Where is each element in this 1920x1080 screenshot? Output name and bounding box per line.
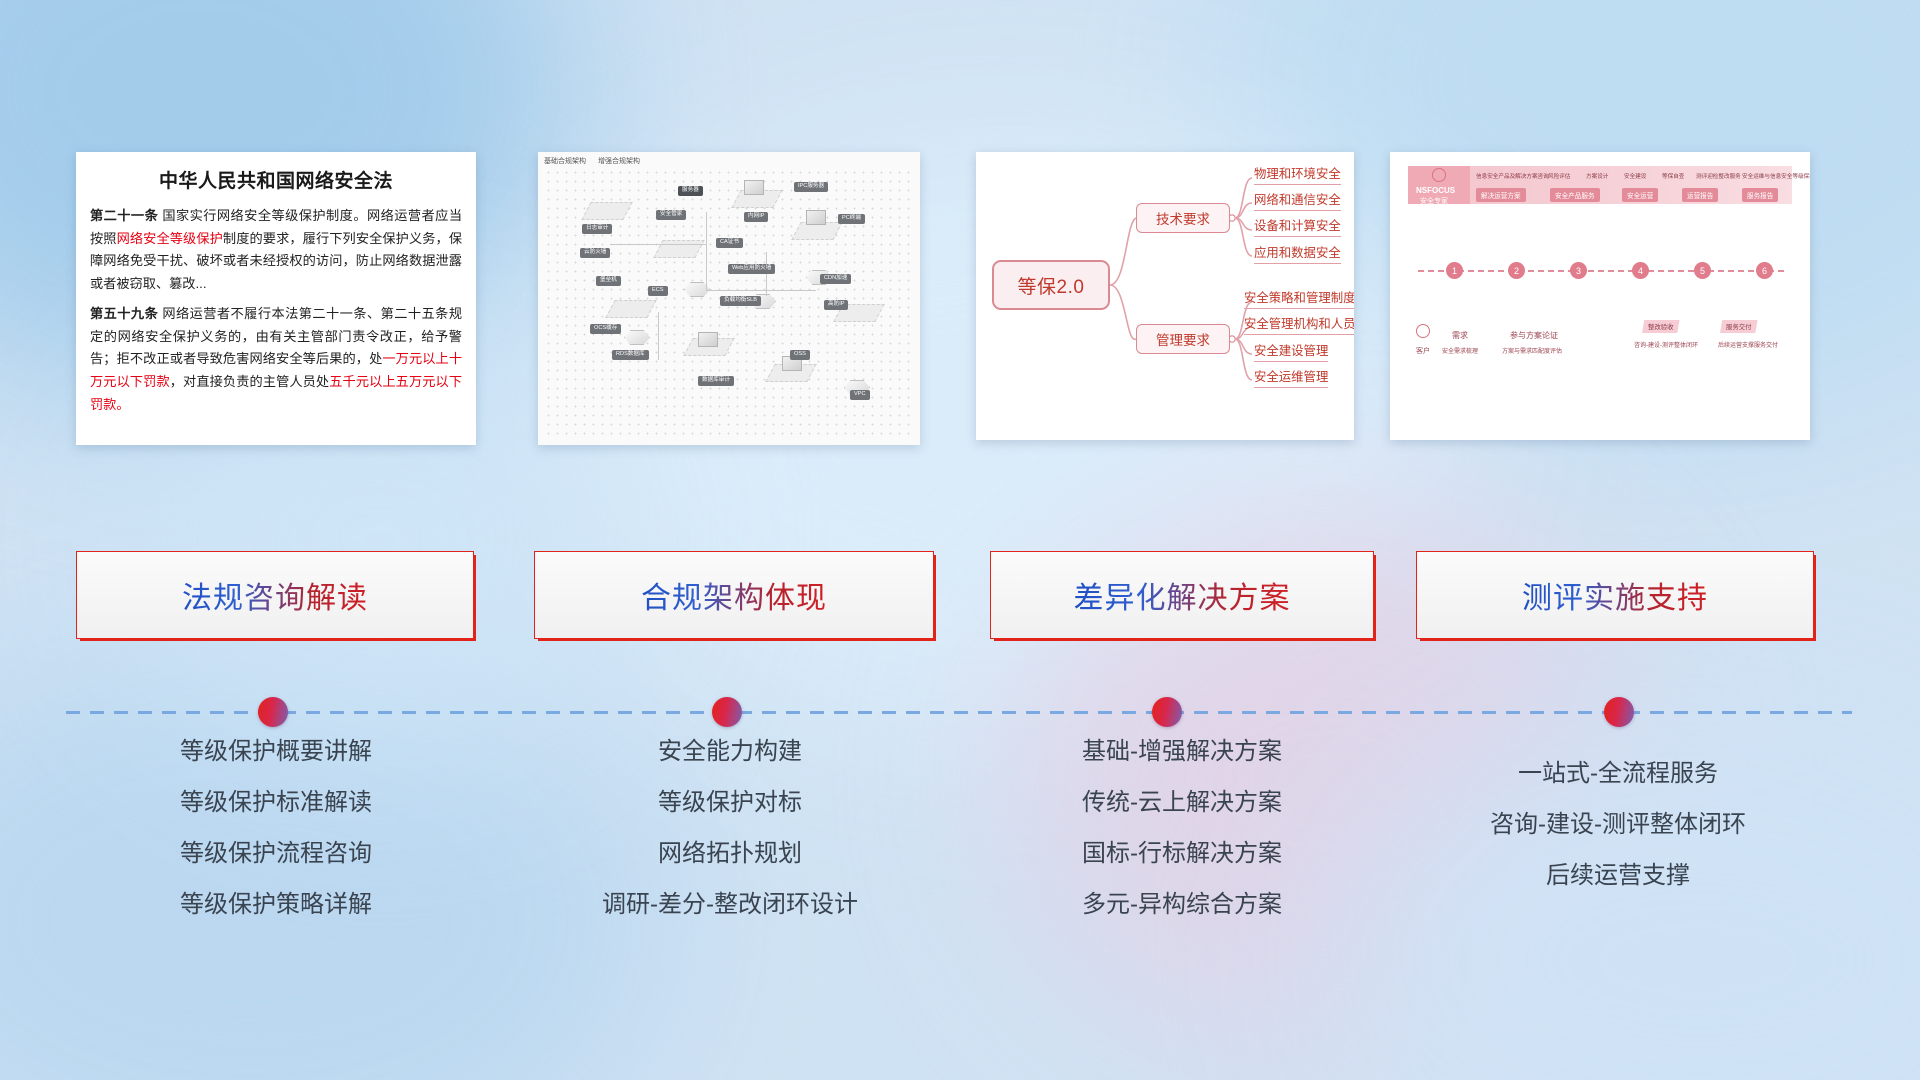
list-item[interactable]: 网络拓扑规划	[520, 842, 940, 866]
arch-connector-1	[610, 244, 706, 245]
timeline-dashed-line	[66, 711, 1852, 714]
mindmap: 等保2.0 技术要求 管理要求 物理和环境安全 网络和通信安全 设备和计算安全 …	[976, 152, 1354, 440]
arch-node-vpc: VPC	[850, 390, 870, 400]
roadmap-chip-1: 安全产品服务	[1550, 188, 1600, 202]
timeline-dot-3[interactable]	[1152, 697, 1182, 727]
law-article-59-run-2: ，对直接负责的主管人员处	[170, 374, 329, 389]
arch-connector-2	[706, 212, 707, 290]
mindmap-leaf-ops-mgmt[interactable]: 安全运维管理	[1254, 367, 1328, 388]
arch-node-gaofang-ip: 高防IP	[824, 300, 848, 310]
titles-row: 法规咨询解读 合规架构体现 差异化解决方案 测评实施支持	[0, 551, 1920, 641]
arch-node-log-audit: 日志审计	[582, 224, 612, 234]
roadmap-tag-acceptance: 整改验收	[1642, 320, 1680, 333]
timeline-dot-4[interactable]	[1604, 697, 1634, 727]
mindmap-leaf-network-comm[interactable]: 网络和通信安全	[1254, 190, 1341, 211]
list-item[interactable]: 等级保护流程咨询	[76, 842, 476, 866]
title-label-0: 法规咨询解读	[182, 573, 368, 617]
list-item[interactable]: 调研-差分-整改闭环设计	[520, 893, 940, 917]
roadmap-diagram: NSFOCUS 安全专家 信息安全产品及解决方案咨询 风险评估 方案设计 安全建…	[1390, 152, 1810, 440]
architecture-header-basic: 基础合规架构	[544, 158, 586, 165]
arch-box-db	[698, 332, 718, 347]
roadmap-top-label-5: 测评迎检整改服务	[1696, 172, 1741, 180]
roadmap-top-label-4: 等保自查	[1662, 172, 1684, 180]
arch-node-ipc: IPC服务器	[794, 182, 828, 192]
list-column-assessment-support: 一站式-全流程服务 咨询-建设-测评整体闭环 后续运营支撑	[1398, 740, 1838, 915]
list-column-compliance-architecture: 安全能力构建 等级保护对标 网络拓扑规划 调研-差分-整改闭环设计	[520, 740, 940, 944]
timeline-dot-1[interactable]	[258, 697, 288, 727]
mindmap-leaf-org-personnel[interactable]: 安全管理机构和人员	[1244, 314, 1354, 335]
roadmap-footer-item-1: 安全需求梳理	[1442, 346, 1478, 355]
roadmap-step-5[interactable]: 5	[1694, 262, 1711, 279]
law-article-21-number: 第二十一条	[90, 208, 158, 223]
list-item[interactable]: 等级保护对标	[520, 791, 940, 815]
mindmap-root[interactable]: 等保2.0	[992, 260, 1110, 310]
list-item[interactable]: 等级保护概要讲解	[76, 740, 476, 764]
roadmap-tag-note-1: 后续运营支撑服务交付	[1718, 340, 1778, 349]
roadmap-top-label-3: 安全建设	[1624, 172, 1646, 180]
roadmap-footer-item-2: 参与方案论证	[1510, 330, 1558, 341]
roadmap-chip-2: 安全运营	[1622, 188, 1658, 202]
list-item[interactable]: 安全能力构建	[520, 740, 940, 764]
title-label-2: 差异化解决方案	[1074, 573, 1291, 617]
title-label-3: 测评实施支持	[1522, 573, 1708, 617]
arch-connector-4	[766, 252, 767, 296]
law-title: 中华人民共和国网络安全法	[76, 166, 476, 193]
law-article-21-run-1: 网络安全等级保护	[117, 231, 223, 246]
arch-node-cloud-fw: 云防火墙	[580, 248, 610, 258]
title-box-regulation-consulting[interactable]: 法规咨询解读	[76, 551, 474, 639]
lists-row: 等级保护概要讲解 等级保护标准解读 等级保护流程咨询 等级保护策略详解 安全能力…	[0, 740, 1920, 990]
timeline-dot-2[interactable]	[712, 697, 742, 727]
law-article-59-number: 第五十九条	[90, 306, 158, 321]
roadmap-tag-delivery: 服务交付	[1720, 320, 1758, 333]
architecture-header: 基础合规架构 增强合规架构	[544, 156, 650, 166]
brand-person-icon	[1432, 168, 1446, 182]
list-item[interactable]: 多元-异构综合方案	[972, 893, 1392, 917]
list-item[interactable]: 等级保护策略详解	[76, 893, 476, 917]
list-column-differentiated-solution: 基础-增强解决方案 传统-云上解决方案 国标-行标解决方案 多元-异构综合方案	[972, 740, 1392, 944]
roadmap-step-1[interactable]: 1	[1446, 262, 1463, 279]
arch-node-ocs: OCS缓存	[590, 324, 621, 334]
arch-node-oss: OSS	[790, 350, 810, 360]
title-box-differentiated-solution[interactable]: 差异化解决方案	[990, 551, 1374, 639]
title-label-1: 合规架构体现	[641, 573, 827, 617]
arch-node-waf-dark: 服务器	[678, 186, 703, 196]
list-item[interactable]: 等级保护标准解读	[76, 791, 476, 815]
list-item[interactable]: 咨询-建设-测评整体闭环	[1398, 813, 1838, 837]
roadmap-step-6[interactable]: 6	[1756, 262, 1773, 279]
mindmap-leaf-device-compute[interactable]: 设备和计算安全	[1254, 216, 1341, 237]
title-box-assessment-support[interactable]: 测评实施支持	[1416, 551, 1814, 639]
arch-node-rds: RDS数据库	[612, 350, 649, 360]
roadmap-top-label-0: 信息安全产品及解决方案咨询	[1476, 172, 1549, 180]
arch-box-pc	[806, 210, 826, 225]
roadmap-step-4[interactable]: 4	[1632, 262, 1649, 279]
card-nsfocus-roadmap[interactable]: NSFOCUS 安全专家 信息安全产品及解决方案咨询 风险评估 方案设计 安全建…	[1390, 152, 1810, 440]
roadmap-chip-3: 运营报告	[1682, 188, 1718, 202]
list-item[interactable]: 基础-增强解决方案	[972, 740, 1392, 764]
roadmap-top-label-6: 安全运维与信息安全等级保护测评咨询	[1742, 172, 1810, 180]
arch-node-ca: CA证书	[716, 238, 743, 248]
roadmap-step-3[interactable]: 3	[1570, 262, 1587, 279]
architecture-diagram: 基础合规架构 增强合规架构	[538, 152, 920, 445]
arch-box-ipc	[744, 180, 764, 195]
cards-row: 中华人民共和国网络安全法 第二十一条 国家实行网络安全等级保护制度。网络运营者应…	[0, 152, 1920, 452]
roadmap-footer-item-3: 方案与需求匹配度评估	[1502, 346, 1562, 355]
list-item[interactable]: 一站式-全流程服务	[1398, 762, 1838, 786]
roadmap-chip-4: 服务报告	[1742, 188, 1778, 202]
mindmap-leaf-construction-mgmt[interactable]: 安全建设管理	[1254, 341, 1328, 362]
list-item[interactable]: 国标-行标解决方案	[972, 842, 1392, 866]
mindmap-branch-management[interactable]: 管理要求	[1136, 324, 1230, 354]
roadmap-brand-line2: 安全专家	[1420, 196, 1448, 206]
arch-node-ecs: ECS	[648, 286, 668, 296]
roadmap-brand-line1: NSFOCUS	[1416, 186, 1455, 195]
arch-connector-3	[706, 290, 816, 291]
roadmap-timeline-line	[1418, 270, 1786, 272]
roadmap-step-2[interactable]: 2	[1508, 262, 1525, 279]
arch-node-safe-butler: 安全管家	[656, 210, 686, 220]
card-law-document[interactable]: 中华人民共和国网络安全法 第二十一条 国家实行网络安全等级保护制度。网络运营者应…	[76, 152, 476, 445]
timeline	[0, 692, 1920, 732]
arch-node-db-audit: 数据库审计	[698, 376, 734, 386]
arch-connector-5	[658, 312, 659, 360]
arch-node-pc: PC终端	[838, 214, 865, 224]
list-item[interactable]: 后续运营支撑	[1398, 864, 1838, 888]
roadmap-footer-item-0: 需求	[1452, 330, 1468, 341]
roadmap-chip-0: 解决运营方案	[1476, 188, 1526, 202]
arch-node-inner-ip: 内网IP	[744, 212, 768, 222]
list-item[interactable]: 传统-云上解决方案	[972, 791, 1392, 815]
mindmap-leaf-physical-env[interactable]: 物理和环境安全	[1254, 164, 1341, 185]
arch-node-jump: 堡垒机	[596, 276, 621, 286]
card-djbh-mindmap[interactable]: 等保2.0 技术要求 管理要求 物理和环境安全 网络和通信安全 设备和计算安全 …	[976, 152, 1354, 440]
roadmap-customer-role: 客户	[1416, 346, 1430, 356]
roadmap-tag-note-0: 咨询-建设-测评整体闭环	[1634, 340, 1698, 349]
law-article-59: 第五十九条 网络运营者不履行本法第二十一条、第二十五条规定的网络安全保护义务的，…	[76, 303, 476, 417]
architecture-header-enhanced: 增强合规架构	[598, 158, 640, 165]
mindmap-leaf-app-data[interactable]: 应用和数据安全	[1254, 243, 1341, 264]
customer-person-icon	[1416, 324, 1430, 338]
mindmap-branch-technical[interactable]: 技术要求	[1136, 203, 1230, 233]
title-box-compliance-architecture[interactable]: 合规架构体现	[534, 551, 934, 639]
roadmap-top-label-1: 风险评估	[1548, 172, 1570, 180]
arch-node-slb: 负载均衡SLB	[720, 296, 761, 306]
mindmap-leaf-policy-system[interactable]: 安全策略和管理制度	[1244, 288, 1354, 309]
arch-node-waf: Web应用防火墙	[728, 264, 775, 274]
law-article-21: 第二十一条 国家实行网络安全等级保护制度。网络运营者应当按照网络安全等级保护制度…	[76, 205, 476, 296]
roadmap-top-label-2: 方案设计	[1586, 172, 1608, 180]
card-compliance-architecture[interactable]: 基础合规架构 增强合规架构	[538, 152, 920, 445]
arch-node-cdn: CDN加速	[820, 274, 851, 284]
list-column-regulation-consulting: 等级保护概要讲解 等级保护标准解读 等级保护流程咨询 等级保护策略详解	[76, 740, 476, 944]
